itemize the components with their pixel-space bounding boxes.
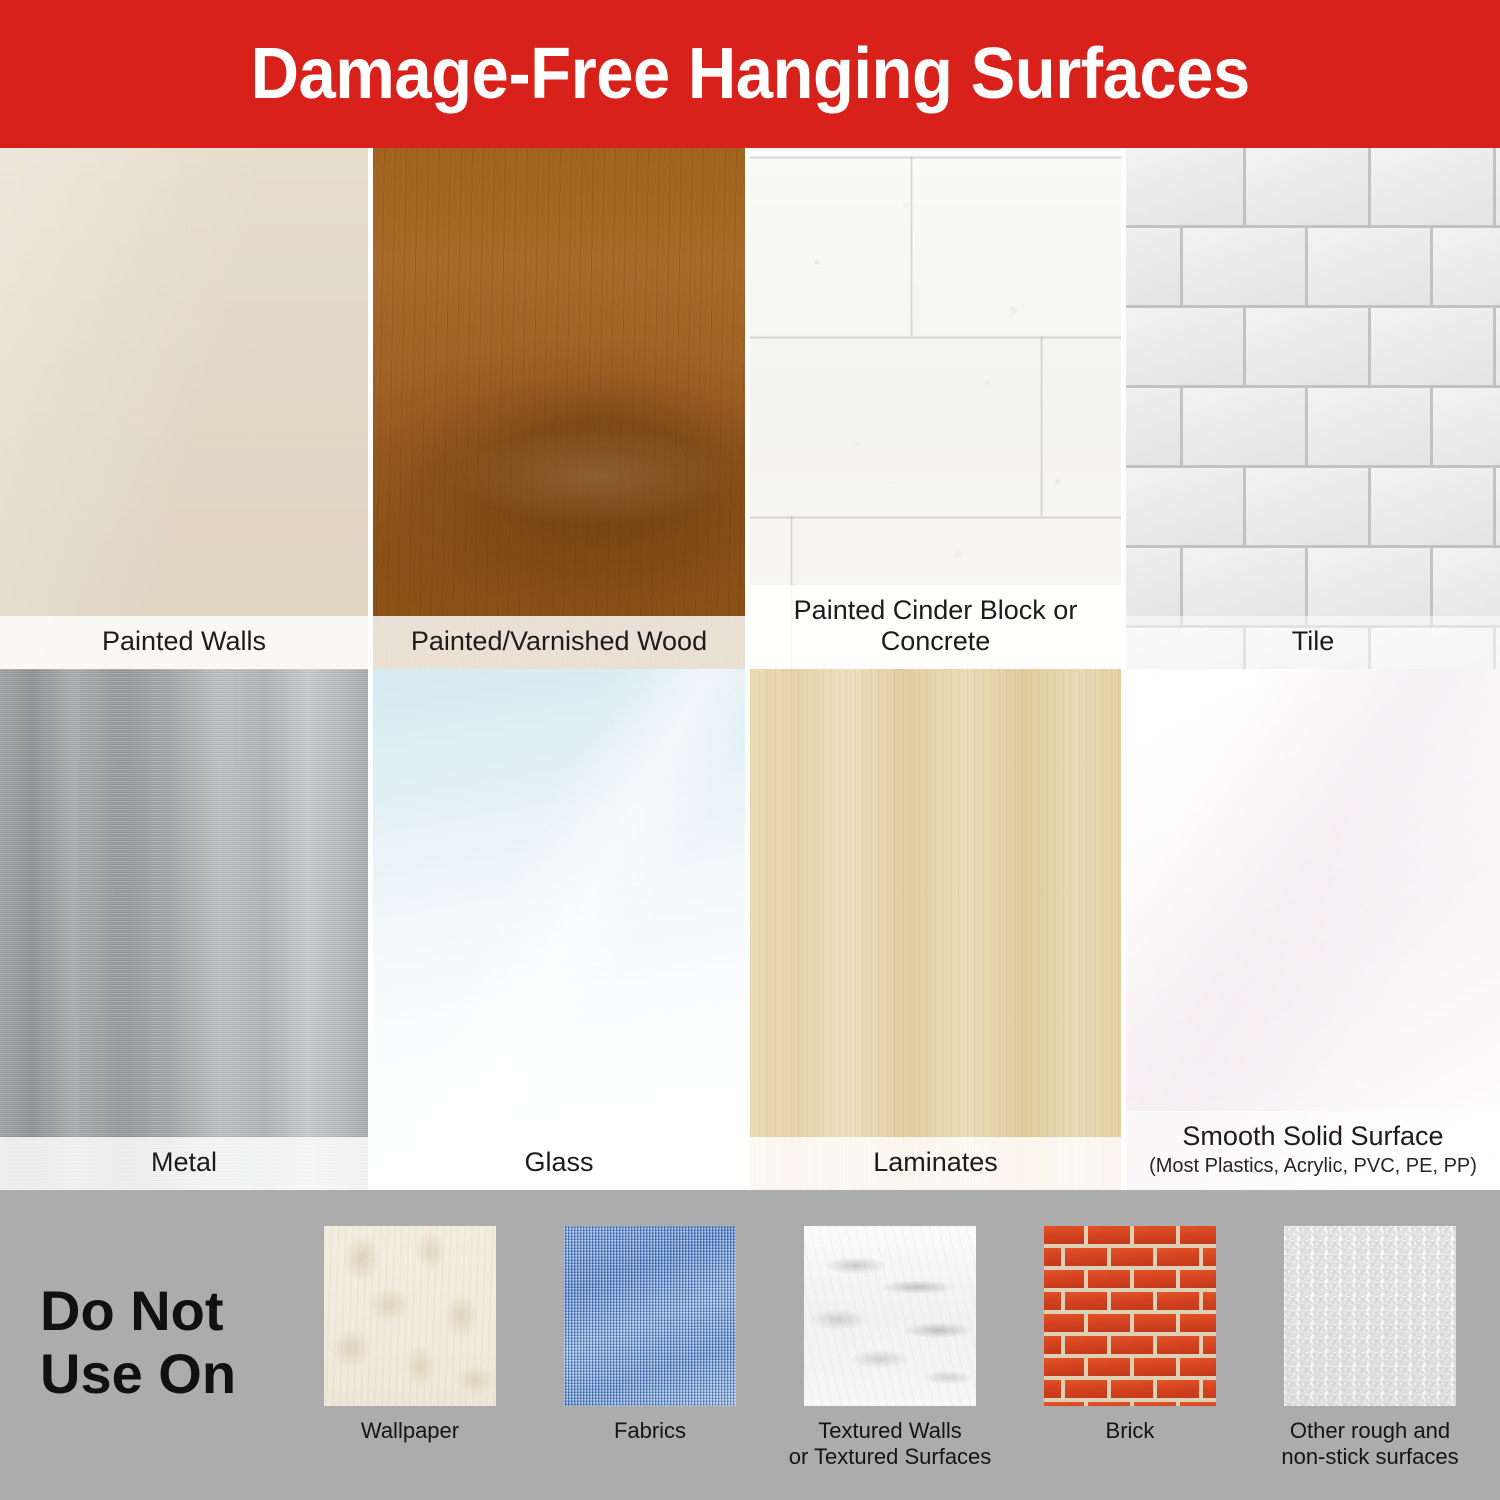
brick-unit <box>1157 1336 1203 1358</box>
brick-unit <box>1203 1292 1216 1314</box>
surface-tile-solid-surface[interactable]: Smooth Solid Surface (Most Plastics, Acr… <box>1126 669 1500 1190</box>
subway-tile-unit <box>1126 468 1246 548</box>
brick-unit <box>1044 1402 1088 1406</box>
subway-tile-texture <box>1126 148 1500 669</box>
do-not-use-item-brick[interactable]: Brick <box>1010 1190 1250 1500</box>
solid-surface-label-main: Smooth Solid Surface <box>1182 1121 1443 1151</box>
do-not-use-item-textured-walls[interactable]: Textured Walls or Textured Surfaces <box>770 1190 1010 1500</box>
textured-wall-texture <box>804 1226 976 1406</box>
subway-tile-row <box>1126 308 1500 388</box>
brick-row <box>1044 1226 1216 1248</box>
brick-unit <box>1180 1358 1216 1380</box>
do-not-use-heading-line2: Use On <box>40 1343 290 1406</box>
brick-unit <box>1088 1314 1134 1336</box>
brick-unit <box>1044 1248 1065 1270</box>
laminate-wood-texture <box>750 669 1121 1190</box>
wallpaper-texture <box>324 1226 496 1406</box>
surface-label-metal: Metal <box>0 1137 368 1190</box>
approved-surfaces-grid: Painted Walls Painted/Varnished Wood Pai… <box>0 148 1500 1190</box>
wallpaper-swatch <box>324 1226 496 1406</box>
brick-row <box>1044 1270 1216 1292</box>
surface-label-cinder-block: Painted Cinder Block or Concrete <box>750 585 1121 669</box>
surface-tile-tile[interactable]: Tile <box>1126 148 1500 669</box>
brick-unit <box>1088 1226 1134 1248</box>
brick-unit <box>1044 1336 1065 1358</box>
mortar-line-v <box>1040 336 1043 516</box>
brick-unit <box>1111 1248 1157 1270</box>
brick-unit <box>1088 1402 1134 1406</box>
brick-unit <box>1134 1358 1180 1380</box>
do-not-use-item-fabrics[interactable]: Fabrics <box>530 1190 770 1500</box>
solid-surface-label-sub: (Most Plastics, Acrylic, PVC, PE, PP) <box>1132 1154 1494 1178</box>
page-title: Damage-Free Hanging Surfaces <box>250 33 1249 115</box>
surface-label-painted-walls: Painted Walls <box>0 616 368 669</box>
textured-wall-swatch <box>804 1226 976 1406</box>
subway-tile-row <box>1126 228 1500 308</box>
subway-tile-row <box>1126 468 1500 548</box>
do-not-use-heading: Do Not Use On <box>40 1280 290 1405</box>
brick-row <box>1044 1314 1216 1336</box>
brick-unit <box>1111 1336 1157 1358</box>
do-not-use-label-rough-surfaces: Other rough and non-stick surfaces <box>1250 1418 1490 1470</box>
surface-tile-painted-walls[interactable]: Painted Walls <box>0 148 368 669</box>
do-not-use-label-textured-walls: Textured Walls or Textured Surfaces <box>770 1418 1010 1470</box>
brick-unit <box>1044 1314 1088 1336</box>
brick-unit <box>1157 1248 1203 1270</box>
subway-tile-unit <box>1183 388 1308 468</box>
brick-unit <box>1180 1270 1216 1292</box>
brick-unit <box>1111 1380 1157 1402</box>
brick-unit <box>1180 1314 1216 1336</box>
do-not-use-label-wallpaper: Wallpaper <box>290 1418 530 1444</box>
brick-unit <box>1180 1226 1216 1248</box>
subway-tile-unit <box>1371 468 1496 548</box>
subway-tile-unit <box>1126 388 1183 468</box>
subway-tile-unit <box>1126 148 1246 228</box>
brick-unit <box>1134 1402 1180 1406</box>
surface-label-solid-surface: Smooth Solid Surface (Most Plastics, Acr… <box>1126 1111 1500 1190</box>
brick-unit <box>1044 1226 1088 1248</box>
subway-tile-unit <box>1371 308 1496 388</box>
brick-unit <box>1065 1292 1111 1314</box>
do-not-use-label-brick: Brick <box>1010 1418 1250 1444</box>
surface-row-2: Metal Glass Laminates Smooth Solid Surfa… <box>0 669 1500 1190</box>
do-not-use-item-rough-surfaces[interactable]: Other rough and non-stick surfaces <box>1250 1190 1490 1500</box>
label-line1: Other rough and <box>1250 1418 1490 1444</box>
mortar-line-h <box>750 516 1121 519</box>
brick-swatch <box>1044 1226 1216 1406</box>
subway-tile-unit <box>1308 228 1433 308</box>
brick-row <box>1044 1380 1216 1402</box>
brick-unit <box>1088 1270 1134 1292</box>
brick-unit <box>1180 1402 1216 1406</box>
label-line1: Brick <box>1010 1418 1250 1444</box>
brick-unit <box>1065 1336 1111 1358</box>
do-not-use-heading-line1: Do Not <box>40 1280 290 1343</box>
brushed-metal-texture <box>0 669 368 1190</box>
brick-unit <box>1134 1314 1180 1336</box>
glass-texture <box>373 669 745 1190</box>
subway-tile-unit <box>1433 228 1500 308</box>
surface-tile-laminates[interactable]: Laminates <box>750 669 1121 1190</box>
surface-label-varnished-wood: Painted/Varnished Wood <box>373 616 745 669</box>
brick-unit <box>1088 1358 1134 1380</box>
surface-row-1: Painted Walls Painted/Varnished Wood Pai… <box>0 148 1500 669</box>
subway-tile-unit <box>1183 228 1308 308</box>
brick-row <box>1044 1336 1216 1358</box>
varnished-wood-texture <box>373 148 745 669</box>
brick-row <box>1044 1292 1216 1314</box>
subway-tile-unit <box>1496 468 1500 548</box>
subway-tile-unit <box>1246 468 1371 548</box>
label-line1: Fabrics <box>530 1418 770 1444</box>
brick-unit <box>1044 1380 1065 1402</box>
brick-row <box>1044 1358 1216 1380</box>
subway-tile-row <box>1126 388 1500 468</box>
surface-tile-varnished-wood[interactable]: Painted/Varnished Wood <box>373 148 745 669</box>
subway-tile-unit <box>1246 148 1371 228</box>
do-not-use-section: Do Not Use On Wallpaper Fabrics <box>0 1190 1500 1500</box>
subway-tile-unit <box>1496 308 1500 388</box>
label-line2: or Textured Surfaces <box>770 1444 1010 1470</box>
subway-tile-unit <box>1246 308 1371 388</box>
mortar-line-h <box>750 156 1121 159</box>
subway-tile-unit <box>1126 228 1183 308</box>
brick-unit <box>1157 1292 1203 1314</box>
do-not-use-label-fabrics: Fabrics <box>530 1418 770 1444</box>
brick-unit <box>1065 1248 1111 1270</box>
rough-surface-swatch <box>1284 1226 1456 1406</box>
brick-unit <box>1111 1292 1157 1314</box>
brick-unit <box>1157 1380 1203 1402</box>
do-not-use-item-list: Wallpaper Fabrics Textured Walls <box>290 1190 1500 1500</box>
brick-unit <box>1203 1248 1216 1270</box>
brick-unit <box>1134 1270 1180 1292</box>
surface-label-tile: Tile <box>1126 616 1500 669</box>
rough-surface-texture <box>1284 1226 1456 1406</box>
brick-unit <box>1203 1380 1216 1402</box>
brick-row <box>1044 1402 1216 1406</box>
subway-tile-row <box>1126 148 1500 228</box>
label-line2: non-stick surfaces <box>1250 1444 1490 1470</box>
mortar-line-h <box>750 336 1121 339</box>
fabric-swatch <box>564 1226 736 1406</box>
brick-unit <box>1044 1270 1088 1292</box>
header-banner: Damage-Free Hanging Surfaces <box>0 0 1500 148</box>
brick-unit <box>1044 1358 1088 1380</box>
mortar-line-v <box>910 156 913 336</box>
label-line1: Textured Walls <box>770 1418 1010 1444</box>
surface-label-glass: Glass <box>373 1137 745 1190</box>
brick-unit <box>1134 1226 1180 1248</box>
surface-tile-glass[interactable]: Glass <box>373 669 745 1190</box>
brick-row <box>1044 1248 1216 1270</box>
painted-wall-texture <box>0 148 368 669</box>
surface-label-laminates: Laminates <box>750 1137 1121 1190</box>
subway-tile-unit <box>1308 388 1433 468</box>
subway-tile-unit <box>1126 308 1246 388</box>
subway-tile-unit <box>1433 388 1500 468</box>
surface-tile-metal[interactable]: Metal <box>0 669 368 1190</box>
do-not-use-item-wallpaper[interactable]: Wallpaper <box>290 1190 530 1500</box>
infographic-page: Damage-Free Hanging Surfaces Painted Wal… <box>0 0 1500 1500</box>
brick-unit <box>1203 1336 1216 1358</box>
surface-tile-cinder-block[interactable]: Painted Cinder Block or Concrete <box>750 148 1121 669</box>
subway-tile-unit <box>1371 148 1496 228</box>
brick-unit <box>1044 1292 1065 1314</box>
fabric-texture <box>564 1226 736 1406</box>
subway-tile-unit <box>1496 148 1500 228</box>
brick-unit <box>1065 1380 1111 1402</box>
brick-texture <box>1044 1226 1216 1406</box>
label-line1: Wallpaper <box>290 1418 530 1444</box>
